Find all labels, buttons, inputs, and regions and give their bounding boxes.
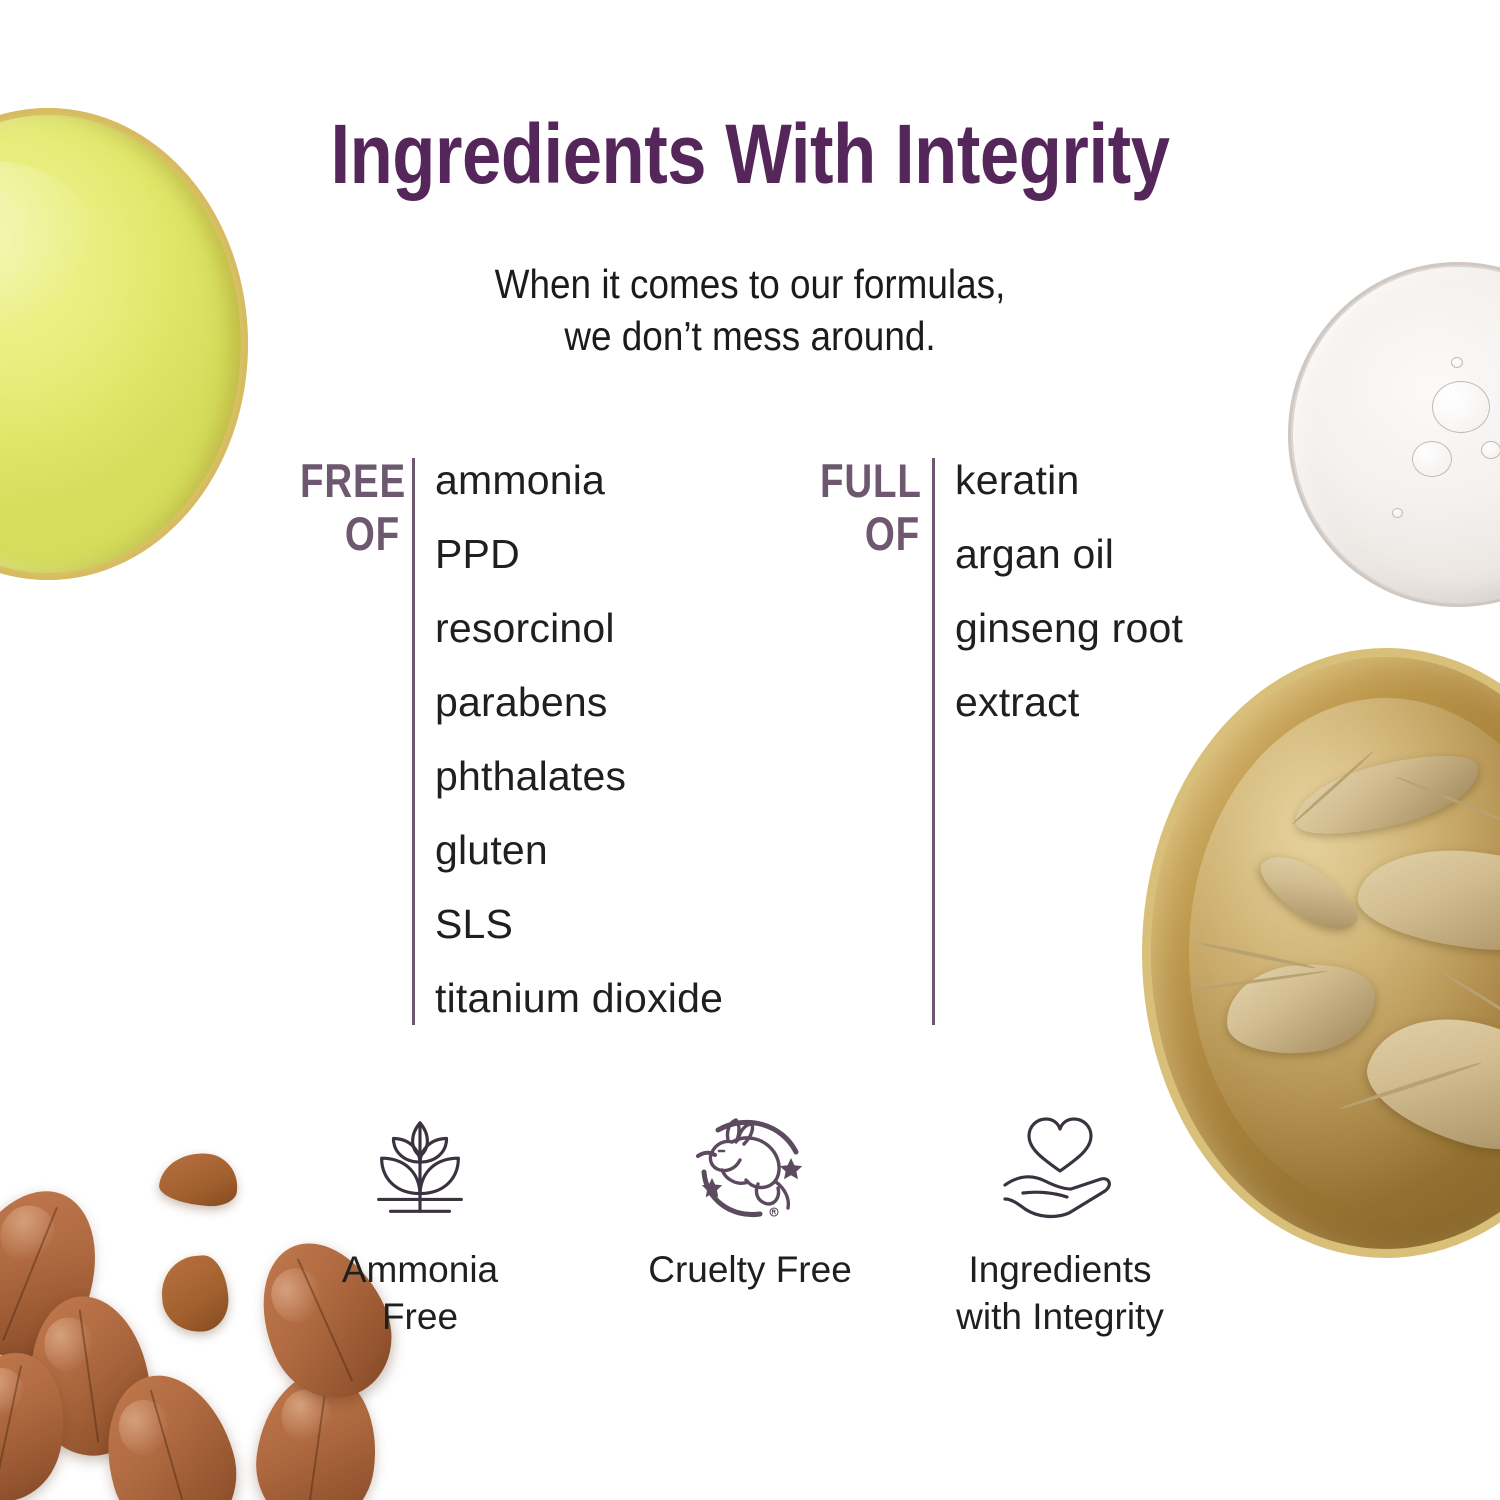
subtitle-line-1: When it comes to our formulas, <box>75 258 1425 310</box>
page-subtitle: When it comes to our formulas, we don’t … <box>75 258 1425 363</box>
gel-bubble <box>1481 441 1500 459</box>
list-item: resorcinol <box>435 603 723 677</box>
list-item: keratin <box>955 455 1183 529</box>
list-item: phthalates <box>435 751 723 825</box>
list-item: PPD <box>435 529 723 603</box>
badge-ammonia-free: Ammonia Free <box>270 1104 570 1341</box>
free-of-list: ammonia PPD resorcinol parabens phthalat… <box>435 455 723 1047</box>
list-item: argan oil <box>955 529 1183 603</box>
badge-ammonia-free-label: Ammonia Free <box>270 1246 570 1341</box>
badge-ingredients-with-integrity: Ingredients with Integrity <box>910 1104 1210 1341</box>
badge-label-line-1: Cruelty Free <box>600 1246 900 1293</box>
free-of-label-line-2: OF <box>300 508 400 561</box>
argan-shell-fragment <box>157 1149 240 1209</box>
argan-shell-fragment <box>159 1254 230 1334</box>
list-item: titanium dioxide <box>435 973 723 1047</box>
list-item: ammonia <box>435 455 723 529</box>
ginseng-root <box>1355 997 1500 1172</box>
full-of-label-line-2: OF <box>820 508 920 561</box>
badge-label-line-2: with Integrity <box>910 1293 1210 1340</box>
badge-cruelty-free: Cruelty Free <box>600 1104 900 1293</box>
page-title: Ingredients With Integrity <box>120 112 1380 196</box>
full-of-divider <box>932 458 935 1025</box>
badge-label-line-2: Free <box>270 1293 570 1340</box>
ginseng-root <box>1251 842 1367 944</box>
ginseng-rootlet <box>1198 941 1316 970</box>
badge-label-line-1: Ammonia <box>270 1246 570 1293</box>
badge-cruelty-free-label: Cruelty Free <box>600 1246 900 1293</box>
full-of-list: keratin argan oil ginseng root extract <box>955 455 1183 751</box>
badge-label-line-1: Ingredients <box>910 1246 1210 1293</box>
badge-ingredients-with-integrity-label: Ingredients with Integrity <box>910 1246 1210 1341</box>
ingredients-infographic: Ingredients With Integrity When it comes… <box>0 0 1500 1500</box>
badge-row: Ammonia Free <box>270 1104 1250 1354</box>
heart-in-hand-icon <box>910 1104 1210 1232</box>
gel-bubble <box>1392 508 1403 518</box>
list-item: extract <box>955 677 1183 751</box>
free-of-label-line-1: FREE <box>300 455 400 508</box>
leaping-bunny-icon <box>600 1104 900 1232</box>
free-of-divider <box>412 458 415 1025</box>
list-item: ginseng root <box>955 603 1183 677</box>
subtitle-line-2: we don’t mess around. <box>75 310 1425 362</box>
gel-bubble <box>1432 381 1490 433</box>
ginseng-root <box>1353 841 1500 961</box>
list-item: gluten <box>435 825 723 899</box>
gel-bubble <box>1451 357 1463 368</box>
gel-bubble <box>1412 441 1452 477</box>
list-item: parabens <box>435 677 723 751</box>
ginseng-root <box>1287 741 1486 847</box>
full-of-label-line-1: FULL <box>820 455 920 508</box>
full-of-label: FULL OF <box>820 455 920 560</box>
free-of-label: FREE OF <box>300 455 400 560</box>
list-item: SLS <box>435 899 723 973</box>
sprout-plant-icon <box>270 1104 570 1232</box>
